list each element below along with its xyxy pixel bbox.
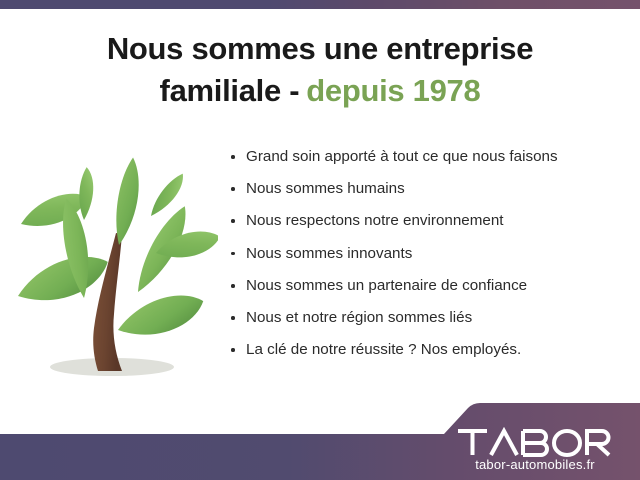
bullet-icon xyxy=(231,348,235,352)
list-item-label: Grand soin apporté à tout ce que nous fa… xyxy=(246,148,558,165)
list-item-label: Nous sommes humains xyxy=(246,180,405,197)
list-item: Nous sommes innovants xyxy=(228,245,628,263)
list-item: Grand soin apporté à tout ce que nous fa… xyxy=(228,148,628,166)
list-item-label: Nous sommes un partenaire de confiance xyxy=(246,277,527,294)
bullet-icon xyxy=(231,187,235,191)
list-item-label: Nous et notre région sommes liés xyxy=(246,309,472,326)
headline-line-1: Nous sommes une entreprise xyxy=(30,28,610,70)
tree-trunk xyxy=(93,233,122,371)
headline-line-2: familiale -depuis 1978 xyxy=(30,70,610,112)
brand-tagline: tabor-automobiles.fr xyxy=(444,458,626,472)
page-title: Nous sommes une entreprise familiale -de… xyxy=(0,28,640,112)
list-item: Nous sommes humains xyxy=(228,180,628,198)
headline-line-2-main: familiale - xyxy=(160,73,300,108)
bullet-icon xyxy=(231,252,235,256)
brand-logo[interactable]: tabor-automobiles.fr xyxy=(444,427,626,472)
list-item-label: La clé de notre réussite ? Nos employés. xyxy=(246,341,521,358)
bullet-icon xyxy=(231,284,235,288)
tree-illustration xyxy=(12,148,218,386)
value-list: Grand soin apporté à tout ce que nous fa… xyxy=(228,148,628,360)
bullet-icon xyxy=(231,219,235,223)
list-item: Nous sommes un partenaire de confiance xyxy=(228,277,628,295)
bullet-icon xyxy=(231,316,235,320)
list-item: La clé de notre réussite ? Nos employés. xyxy=(228,341,628,359)
list-item-label: Nous respectons notre environnement xyxy=(246,212,504,229)
headline-accent: depuis 1978 xyxy=(306,73,480,108)
list-item-label: Nous sommes innovants xyxy=(246,245,412,262)
bullet-icon xyxy=(231,155,235,159)
list-item: Nous et notre région sommes liés xyxy=(228,309,628,327)
top-accent-bar xyxy=(0,0,640,9)
footer-band: tabor-automobiles.fr xyxy=(0,402,640,480)
slide-canvas: Nous sommes une entreprise familiale -de… xyxy=(0,0,640,480)
list-item: Nous respectons notre environnement xyxy=(228,212,628,230)
